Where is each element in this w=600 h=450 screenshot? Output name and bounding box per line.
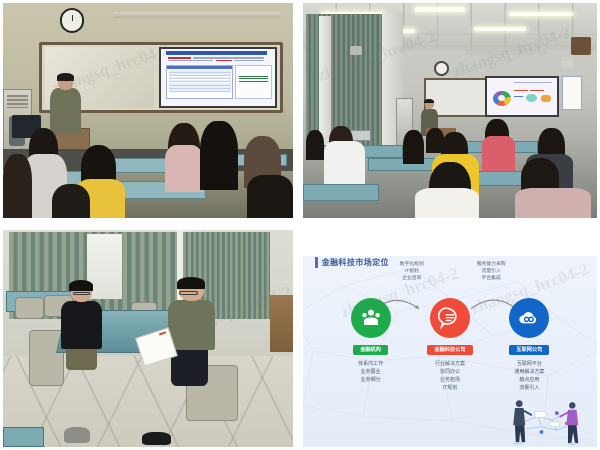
node-bullets: 体系内工作 业务展业 业务细分 xyxy=(332,360,408,384)
student-body xyxy=(165,145,203,192)
photo-panel-top-right: zhangsq_hrc04-2 zhangsq_hrc04-2 xyxy=(303,3,597,218)
slide-table xyxy=(166,65,233,99)
people-illustration xyxy=(497,396,591,446)
node-bullets: 互联网平台 通用解决方案 触点应用 流量引入 xyxy=(491,360,567,392)
slide-label-red xyxy=(530,90,544,91)
student-body xyxy=(515,188,591,218)
student-head xyxy=(247,175,293,218)
student-head xyxy=(200,121,238,190)
slide-highlight-text xyxy=(216,60,232,61)
slide-table-row xyxy=(169,86,231,89)
slide-card-line xyxy=(239,81,268,82)
person-left-figure xyxy=(512,401,531,446)
slide-circle-graphic xyxy=(526,94,537,102)
student-head xyxy=(52,184,90,218)
slide-table-row xyxy=(169,80,231,83)
student-body xyxy=(324,141,365,184)
shoe xyxy=(64,427,90,442)
wall-speaker xyxy=(350,46,362,55)
classroom-photo: zhangsq_hrc04-2 zhangsq_hrc04-2 xyxy=(303,3,597,218)
node-bullets: 行业解决方案 协同办公 业务拓场 IT规划 xyxy=(412,360,488,392)
ceiling-beam xyxy=(113,12,281,19)
photo-panel-top-left: zhangsq_hrc04-2 xyxy=(3,3,293,218)
wall-fixture xyxy=(562,57,574,68)
person-right-figure xyxy=(560,403,578,446)
chat-bubble-icon xyxy=(430,298,470,338)
slide-text-line xyxy=(234,60,264,61)
student-head xyxy=(3,154,32,219)
student-body xyxy=(415,188,480,218)
interviewer-figure xyxy=(168,280,214,393)
projection-screen xyxy=(159,47,278,108)
slide-table-header xyxy=(167,66,232,69)
wall-clock-icon xyxy=(60,8,85,33)
slide-shape-graphic xyxy=(541,95,551,102)
instructor-figure xyxy=(49,74,81,134)
node-financial-institution[interactable]: 金融机构 体系内工作 业务展业 业务细分 xyxy=(332,298,408,384)
slide-title-line xyxy=(514,82,552,83)
photo-collage: zhangsq_hrc04-2 xyxy=(0,0,600,450)
wall-rail xyxy=(465,50,547,54)
student-head xyxy=(403,130,424,164)
interview-photo: zhangsq_hrc04-2 xyxy=(3,230,293,447)
student-body xyxy=(482,136,514,170)
wall-poster xyxy=(562,76,583,110)
student-head xyxy=(306,130,324,160)
people-group-icon xyxy=(351,298,391,338)
chair xyxy=(15,297,44,319)
node-internet-company[interactable]: 互联网公司 互联网平台 通用解决方案 触点应用 流量引入 xyxy=(491,298,567,392)
slide-card-line xyxy=(239,78,268,79)
node-label: 互联网公司 xyxy=(509,345,549,355)
node-label: 金融机构 xyxy=(353,345,388,355)
slide-side-card xyxy=(235,65,272,99)
wooden-cabinet xyxy=(270,295,293,351)
slide-content-area: 金融科技市场定位 数字化规划 IT规划 企业咨询 服务能力采购 流量引入 平台集… xyxy=(303,256,597,447)
interviewee-figure xyxy=(61,282,102,382)
slide-highlight-text xyxy=(168,57,191,58)
laptop xyxy=(350,130,371,141)
slide-table-row xyxy=(169,73,231,76)
cloud-infinity-icon xyxy=(509,298,549,338)
slide-table-row xyxy=(169,89,231,92)
slide-text-line xyxy=(168,60,214,61)
shoe xyxy=(142,432,171,445)
slide-label-red xyxy=(514,90,528,91)
slide-table-row xyxy=(169,77,231,80)
slide-card-line xyxy=(239,76,268,77)
slide-label-blue xyxy=(514,96,524,97)
pie-chart-graphic xyxy=(493,91,511,106)
ceiling-light xyxy=(415,7,465,11)
slide-table-row xyxy=(169,83,231,86)
wall-speaker xyxy=(571,37,592,54)
slide-table-row xyxy=(169,70,231,73)
projection-screen xyxy=(485,76,559,117)
node-fintech-company[interactable]: 金融科技公司 行业解决方案 协同办公 业务拓场 IT规划 xyxy=(412,298,488,392)
slide-text-line xyxy=(193,57,264,58)
presentation-slide-panel: 金融科技市场定位 数字化规划 IT规划 企业咨询 服务能力采购 流量引入 平台集… xyxy=(303,228,597,447)
ceiling-light xyxy=(474,27,527,31)
front-table xyxy=(3,427,44,447)
node-label: 金融科技公司 xyxy=(427,345,472,355)
photo-panel-bottom-left: zhangsq_hrc04-2 xyxy=(3,230,293,447)
fintech-positioning-slide: 金融科技市场定位 数字化规划 IT规划 企业咨询 服务能力采购 流量引入 平台集… xyxy=(303,228,597,447)
slide-title-bar xyxy=(166,51,267,55)
wall-pillar xyxy=(319,16,331,145)
student-desk xyxy=(303,184,379,201)
ceiling-light xyxy=(509,12,574,16)
lecture-hall-photo: zhangsq_hrc04-2 xyxy=(3,3,293,218)
